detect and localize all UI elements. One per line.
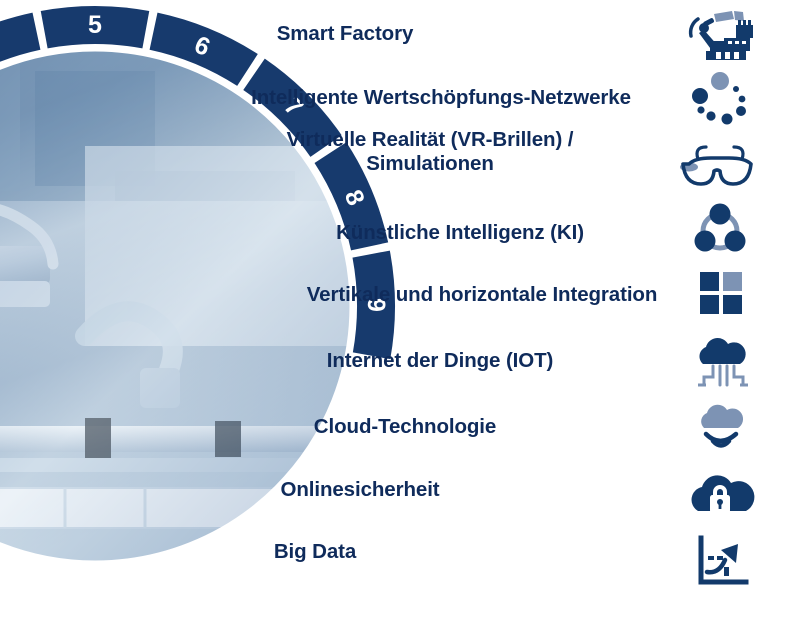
cloud-lock-security-icon: [680, 464, 760, 526]
vr-glasses-icon: [680, 133, 760, 195]
label-virtuelle-realitaet: Virtuelle Realität (VR-Brillen) / Simula…: [220, 128, 640, 176]
artificial-intelligence-nodes-icon: [680, 200, 760, 262]
cloud-circuit-iot-icon: [680, 333, 760, 395]
label-smart-factory: Smart Factory: [150, 22, 540, 46]
label-cloud-technologie: Cloud-Technologie: [195, 415, 615, 439]
label-big-data: Big Data: [105, 540, 525, 564]
label-column: Smart Factory Intelligente Wertschöpfung…: [150, 0, 680, 596]
infographic-root: 123456789 Smart Factory Intelligente Wer…: [0, 0, 794, 596]
label-wertschoepfungs-netzwerke: Intelligente Wertschöpfungs-Netzwerke: [206, 86, 676, 110]
label-vertikale-horizontale-integration: Vertikale und horizontale Integration: [257, 283, 707, 307]
wheel-segment-number-5: 5: [88, 11, 102, 39]
four-squares-integration-icon: [680, 264, 760, 326]
growth-chart-arrow-icon: [680, 530, 760, 592]
smart-factory-robot-icon: [680, 5, 760, 67]
icon-column: [672, 0, 794, 596]
label-internet-der-dinge: Internet der Dinge (IOT): [230, 349, 650, 373]
network-nodes-icon: [680, 70, 760, 132]
cloud-wifi-icon: [680, 398, 760, 460]
label-onlinesicherheit: Onlinesicherheit: [150, 478, 570, 502]
label-kuenstliche-intelligenz: Künstliche Intelligenz (KI): [250, 221, 670, 245]
